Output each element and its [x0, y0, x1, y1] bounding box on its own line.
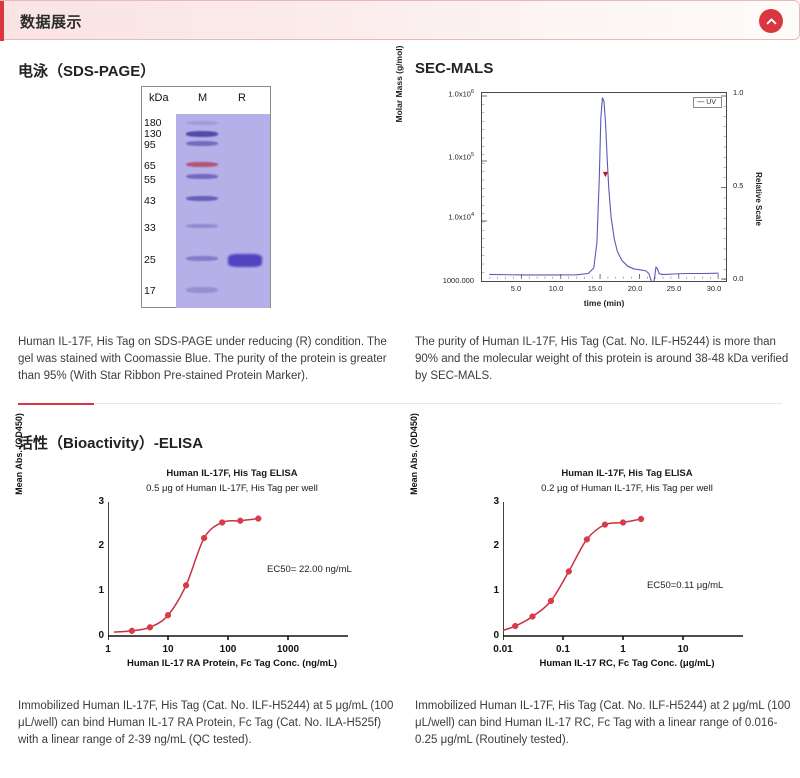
marker-band-33 — [186, 224, 218, 228]
page-title: 数据展示 — [20, 11, 82, 32]
header-accent-bar — [0, 1, 4, 41]
elisa2-caption: Immobilized Human IL-17F, His Tag (Cat. … — [415, 698, 793, 749]
sds-page-gel-image: kDa M R 180 130 95 65 55 43 33 25 17 — [141, 86, 271, 308]
elisa1-y-tick: 2 — [88, 540, 104, 551]
elisa1-curve — [108, 502, 348, 640]
elisa1-y-tick: 3 — [88, 496, 104, 507]
gel-ladder-label: 95 — [144, 140, 156, 151]
sec-mals-x-tick: 10.0 — [541, 284, 571, 293]
elisa1-plot-area — [108, 502, 348, 640]
section-title-bioactivity: 活性（Bioactivity）-ELISA — [18, 432, 203, 453]
sec-mals-y-axis-label: Molar Mass (g/mol) — [394, 24, 404, 144]
section-title-sec-mals: SEC-MALS — [415, 60, 493, 77]
protein-marker-link[interactable]: Star Ribbon Pre-stained Protein Marker — [100, 370, 301, 382]
elisa2-subtitle: 0.2 μg of Human IL-17F, His Tag per well — [457, 483, 797, 494]
section-title-sds-page: 电泳（SDS-PAGE） — [18, 60, 155, 81]
sec-mals-x-tick: 20.0 — [620, 284, 650, 293]
elisa2-y-axis-label: Mean Abs. (OD450) — [409, 394, 419, 514]
marker-band-43 — [186, 196, 218, 201]
legend-label-uv: UV — [706, 99, 716, 106]
sec-mals-y2-tick: 0.0 — [733, 274, 757, 283]
elisa2-title: Human IL-17F, His Tag ELISA — [457, 468, 797, 479]
molar-mass-marker-icon: ▼ — [601, 169, 610, 179]
marker-band-17 — [186, 287, 218, 293]
elisa1-subtitle: 0.5 μg of Human IL-17F, His Tag per well — [62, 483, 402, 494]
elisa1-title: Human IL-17F, His Tag ELISA — [62, 468, 402, 479]
elisa1-caption: Immobilized Human IL-17F, His Tag (Cat. … — [18, 698, 396, 749]
gel-header-reducing-lane: R — [238, 92, 246, 104]
collapse-panel-button[interactable] — [759, 9, 783, 33]
legend-line-swatch: — — [697, 99, 704, 106]
elisa2-x-tick: 1 — [603, 644, 643, 655]
gel-ladder-label: 33 — [144, 223, 156, 234]
sec-mals-y2-axis-label: Relative Scale — [754, 144, 763, 254]
elisa1-x-tick: 100 — [208, 644, 248, 655]
gel-ladder-label: 65 — [144, 161, 156, 172]
elisa1-y-tick: 1 — [88, 585, 104, 596]
elisa2-x-tick: 10 — [663, 644, 703, 655]
elisa2-y-tick: 1 — [483, 585, 499, 596]
elisa2-x-tick: 0.01 — [483, 644, 523, 655]
elisa2-plot-area — [503, 502, 743, 640]
marker-band-95 — [186, 141, 218, 146]
sec-mals-x-tick: 15.0 — [580, 284, 610, 293]
elisa2-curve — [503, 502, 743, 640]
marker-band-55 — [186, 174, 218, 179]
elisa2-x-axis-label: Human IL-17 RC, Fc Tag Conc. (μg/mL) — [457, 658, 797, 669]
elisa2-y-tick: 0 — [483, 630, 499, 641]
sample-band-reducing — [228, 254, 262, 267]
sec-mals-legend: — UV — [693, 97, 722, 108]
elisa1-x-tick: 1 — [88, 644, 128, 655]
elisa-chart-il17rc: Human IL-17F, His Tag ELISA 0.2 μg of Hu… — [457, 468, 797, 678]
elisa1-x-tick: 10 — [148, 644, 188, 655]
elisa1-y-axis-label: Mean Abs. (OD450) — [14, 394, 24, 514]
gel-header-kda: kDa — [149, 92, 169, 104]
sec-mals-y-tick: 1000.000 — [412, 276, 474, 285]
data-display-panel: 数据展示 电泳（SDS-PAGE） kDa M R 180 130 95 65 … — [0, 0, 800, 778]
section-divider — [18, 403, 782, 404]
gel-lanes-background — [176, 114, 270, 308]
elisa2-x-tick: 0.1 — [543, 644, 583, 655]
marker-band-130 — [186, 131, 218, 137]
divider-accent — [18, 403, 94, 405]
gel-ladder-label: 130 — [144, 129, 162, 140]
gel-lane-headers: kDa M R — [142, 87, 270, 113]
sec-mals-caption: The purity of Human IL-17F, His Tag (Cat… — [415, 334, 793, 385]
sec-mals-x-tick: 5.0 — [501, 284, 531, 293]
sec-mals-y-tick: 1.0x104 — [418, 212, 474, 222]
elisa1-x-axis-label: Human IL-17 RA Protein, Fc Tag Conc. (ng… — [62, 658, 402, 669]
marker-band-25 — [186, 256, 218, 261]
elisa-chart-il17ra: Human IL-17F, His Tag ELISA 0.5 μg of Hu… — [62, 468, 402, 678]
elisa1-y-tick: 0 — [88, 630, 104, 641]
chevron-up-icon — [765, 15, 778, 28]
gel-ladder-label: 25 — [144, 255, 156, 266]
gel-ladder-label: 180 — [144, 118, 162, 129]
sec-mals-y2-tick: 0.5 — [733, 181, 757, 190]
sec-mals-x-axis-label: time (min) — [481, 298, 727, 308]
marker-band-65 — [186, 162, 218, 167]
sec-mals-x-tick: 30.0 — [699, 284, 729, 293]
sec-mals-x-tick: 25.0 — [659, 284, 689, 293]
gel-ladder-label: 55 — [144, 175, 156, 186]
sec-mals-y-tick: 1.0x105 — [418, 152, 474, 162]
sec-mals-plot-area: — UV ▼ — [481, 92, 727, 282]
gel-ladder-label: 43 — [144, 196, 156, 207]
marker-band-180 — [186, 121, 218, 125]
caption-text-part2: ). — [301, 370, 308, 382]
elisa2-y-tick: 2 — [483, 540, 499, 551]
sec-mals-uv-trace — [482, 93, 726, 281]
sec-mals-chart: Molar Mass (g/mol) Relative Scale time (… — [418, 84, 796, 310]
elisa2-y-tick: 3 — [483, 496, 499, 507]
elisa1-x-tick: 1000 — [268, 644, 308, 655]
sds-page-caption: Human IL-17F, His Tag on SDS-PAGE under … — [18, 334, 396, 385]
gel-header-marker-lane: M — [198, 92, 207, 104]
sec-mals-y-tick: 1.0x106 — [418, 89, 474, 99]
gel-ladder-label: 17 — [144, 286, 156, 297]
sec-mals-y2-tick: 1.0 — [733, 88, 757, 97]
